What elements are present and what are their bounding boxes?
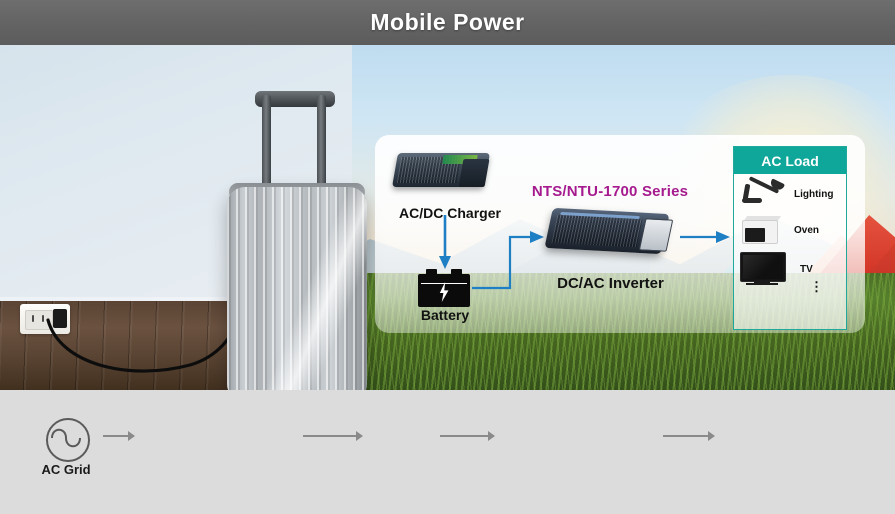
flow-diagram: AC Grid AC/DC Charger NPB/NPP-1700 Serie… [0,390,895,514]
ac-load-label-lighting: Lighting [794,189,833,200]
ac-load-item-tv: TV [740,252,844,286]
lightning-bolt-icon [437,282,451,302]
ac-load-label-oven: Oven [794,225,819,236]
hero-scene: AC/DC Charger Battery NTS/NTU-1700 Serie… [0,45,895,390]
battery-top-line [421,283,467,284]
mobile-power-infographic: Mobile Power [0,0,895,514]
arrow-battery-to-inverter [440,431,500,441]
charger-front-panel [459,159,490,187]
dcac-inverter-device-icon [548,205,670,267]
tv-stand [746,283,778,285]
inverter-caption: DC/AC Inverter [538,275,683,292]
television-icon [740,252,788,286]
ac-load-label-tv: TV [800,264,813,275]
inverter-front-panel [639,218,673,251]
oven-body [742,220,778,244]
arrow-charger-to-battery [439,256,451,269]
acdc-charger-device-icon [395,145,490,197]
outlet-slot-left [32,315,34,322]
arrow-inverter-to-load [663,431,718,441]
ac-grid-label: AC Grid [26,462,106,477]
battery-body [418,274,470,307]
suitcase-body [227,187,367,390]
lamp-base [742,198,762,203]
battery-icon [418,269,470,307]
inverter-series-label: NTS/NTU-1700 Series [520,183,700,200]
oven-door [745,228,765,242]
page-title: Mobile Power [370,9,524,36]
arrow-inverter-to-load [680,227,740,247]
ac-load-item-lighting: Lighting [742,180,842,208]
tv-bezel [740,252,786,282]
ac-load-item-oven: Oven [742,215,842,245]
ac-load-card-header: AC Load [734,147,846,174]
tv-screen [743,255,783,279]
arrow-charger-to-battery [303,431,363,441]
suitcase-handle-right [317,95,326,195]
inverter-heatsink [552,215,643,248]
ac-load-ellipsis: ⋮ [810,283,820,291]
battery-caption: Battery [405,307,485,323]
page-header: Mobile Power [0,0,895,45]
ac-load-card: AC Load Lighting Oven [733,146,847,330]
ac-load-card-title: AC Load [761,153,819,169]
desk-lamp-icon [742,181,788,207]
microwave-oven-icon [742,216,786,244]
arrow-grid-to-charger [103,431,135,441]
suitcase-handle-left [262,95,271,195]
arrow-battery-to-inverter [530,231,544,243]
ac-sine-wave-icon [46,418,90,462]
